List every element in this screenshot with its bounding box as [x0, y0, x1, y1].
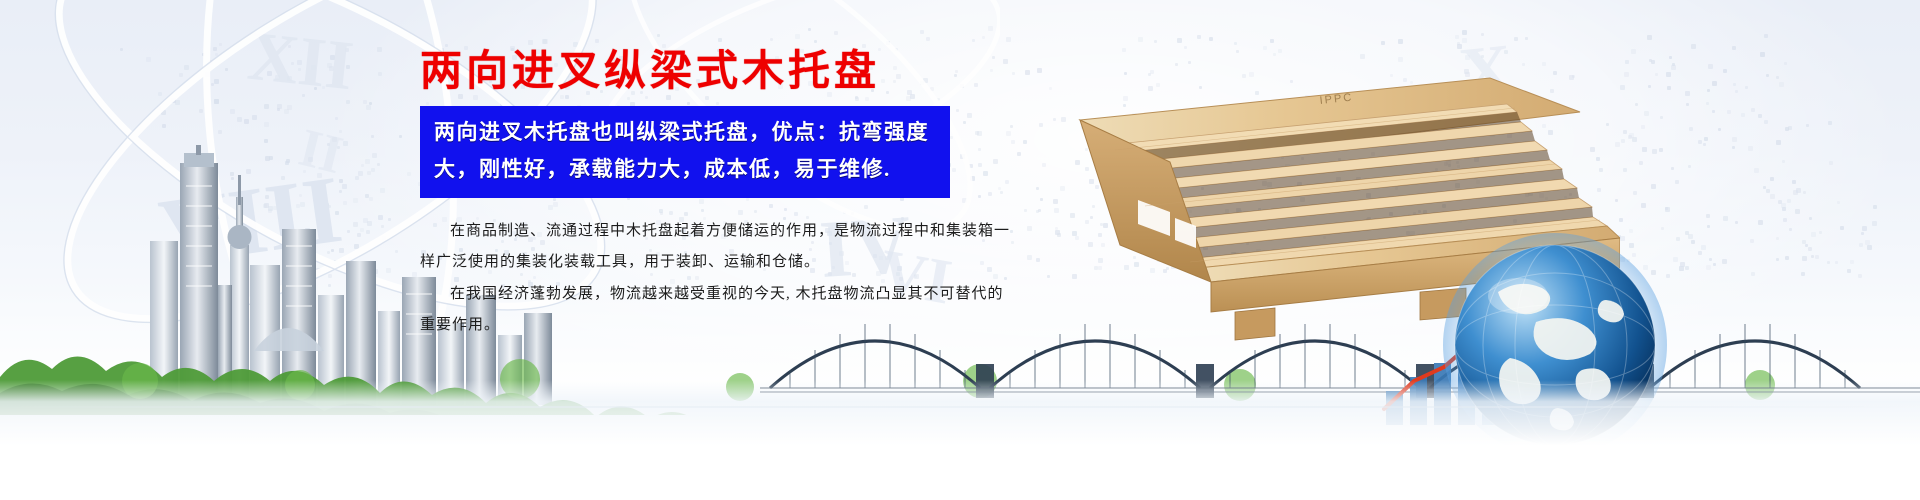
page-title: 两向进叉纵梁式木托盘	[420, 50, 1120, 94]
water-reflection-decoration	[0, 380, 1920, 500]
roman-numeral-decoration-5: X	[1456, 28, 1516, 116]
water-horizon-line	[0, 406, 1920, 408]
roman-numeral-decoration-2: XII	[244, 17, 357, 108]
globe-earth-decoration	[1440, 230, 1670, 460]
roman-numeral-decoration-1: VIII	[153, 153, 348, 288]
description-paragraph-1: 在商品制造、流通过程中木托盘起着方便储运的作用，是物流过程中和集装箱一样广泛使用…	[420, 216, 1010, 279]
highlight-line-1: 两向进叉木托盘也叫纵梁式托盘，优点：抗弯强度	[434, 114, 936, 151]
svg-text:IPPC: IPPC	[1319, 92, 1354, 107]
highlight-callout-box: 两向进叉木托盘也叫纵梁式托盘，优点：抗弯强度 大，刚性好，承载能力大，成本低，易…	[420, 106, 950, 198]
product-banner: VIII XII IV VI X II	[0, 0, 1920, 500]
banner-text-block: 两向进叉纵梁式木托盘 两向进叉木托盘也叫纵梁式托盘，优点：抗弯强度 大，刚性好，…	[420, 50, 1120, 342]
roman-numeral-decoration-6: II	[293, 116, 349, 186]
description-paragraph-2: 在我国经济蓬勃发展，物流越来越受重视的今天, 木托盘物流凸显其不可替代的重要作用…	[420, 279, 1010, 342]
description-paragraphs: 在商品制造、流通过程中木托盘起着方便储运的作用，是物流过程中和集装箱一样广泛使用…	[420, 216, 1010, 342]
highlight-line-2: 大，刚性好，承载能力大，成本低，易于维修.	[434, 151, 936, 188]
growth-bar-chart-decoration	[1380, 315, 1530, 425]
